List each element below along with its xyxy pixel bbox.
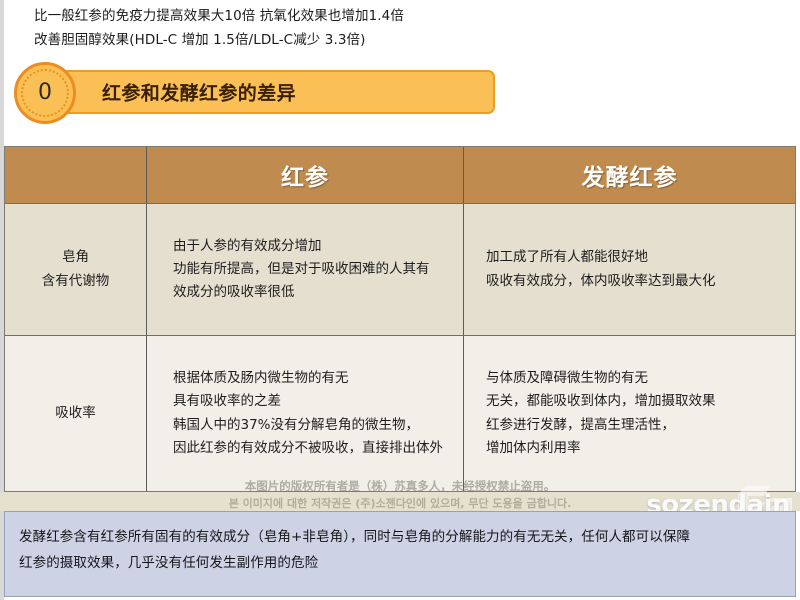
lead-line-2: 改善胆固醇效果(HDL-C 增加 1.5倍/LDL-C减少 3.3倍)	[34, 34, 366, 48]
cell-line: 无关，都能吸收到体内，增加摄取效果	[486, 390, 716, 413]
table-header-cell-fermented: 发酵红参	[464, 147, 795, 203]
row-fermented-cell: 加工成了所有人都能很好地 吸收有效成分，体内吸收率达到最大化	[464, 204, 795, 335]
cell-line: 增加体内利用率	[486, 437, 716, 460]
cell-line: 功能有所提高，但是对于吸收困难的人其有	[173, 258, 430, 281]
lead-line-1: 比一般红参的免疫力提高效果大10倍 抗氧化效果也增加1.4倍	[34, 10, 404, 24]
row-red-ginseng-cell: 根据体质及肠内微生物的有无 具有吸收率的之差 韩国人中的37%没有分解皂角的微生…	[147, 336, 464, 491]
row-label-line: 皂角	[42, 246, 110, 269]
table-header-cell-red-ginseng: 红参	[147, 147, 464, 203]
row-label-cell: 吸收率	[5, 336, 147, 491]
cell-line: 与体质及障碍微生物的有无	[486, 367, 716, 390]
row-label-line: 吸收率	[55, 402, 96, 425]
cell-line: 加工成了所有人都能很好地	[486, 246, 716, 269]
badge-number: 0	[17, 82, 73, 104]
cell-line: 韩国人中的37%没有分解皂角的微生物，	[173, 414, 443, 437]
comparison-table: 红参 发酵红参 皂角 含有代谢物 由于人参的有效成分增加 功能有所提高，但是对于…	[4, 146, 796, 492]
table-header-cell-empty	[5, 147, 147, 203]
table-row: 皂角 含有代谢物 由于人参的有效成分增加 功能有所提高，但是对于吸收困难的人其有…	[5, 204, 795, 336]
row-label-cell: 皂角 含有代谢物	[5, 204, 147, 335]
title-banner: 红参和发酵红参的差异	[54, 70, 495, 114]
cell-line: 根据体质及肠内微生物的有无	[173, 367, 443, 390]
cell-line: 因此红参的有效成分不被吸收，直接排出体外	[173, 437, 443, 460]
conclusion-line: 发酵红参含有红参所有固有的有效成分（皂角+非皂角），同时与皂角的分解能力的有无无…	[19, 524, 781, 550]
row-fermented-cell: 与体质及障碍微生物的有无 无关，都能吸收到体内，增加摄取效果 红参进行发酵，提高…	[464, 336, 795, 491]
table-row: 吸收率 根据体质及肠内微生物的有无 具有吸收率的之差 韩国人中的37%没有分解皂…	[5, 336, 795, 491]
cell-line: 具有吸收率的之差	[173, 390, 443, 413]
cell-line: 红参进行发酵，提高生理活性，	[486, 414, 716, 437]
cell-line: 效成分的吸收率很低	[173, 281, 430, 304]
section-number-badge: 0	[14, 62, 76, 124]
table-header-row: 红参 发酵红参	[5, 147, 795, 204]
conclusion-box: 发酵红参含有红参所有固有的有效成分（皂角+非皂角），同时与皂角的分解能力的有无无…	[4, 511, 796, 597]
conclusion-line: 红参的摄取效果，几乎没有任何发生副作用的危险	[19, 550, 781, 576]
cell-line: 吸收有效成分，体内吸收率达到最大化	[486, 270, 716, 293]
slide-canvas: 比一般红参的免疫力提高效果大10倍 抗氧化效果也增加1.4倍 改善胆固醇效果(H…	[0, 0, 800, 600]
banner-title: 红参和发酵红参的差异	[102, 79, 296, 106]
row-label-line: 含有代谢物	[42, 270, 110, 293]
row-red-ginseng-cell: 由于人参的有效成分增加 功能有所提高，但是对于吸收困难的人其有 效成分的吸收率很…	[147, 204, 464, 335]
cell-line: 由于人参的有效成分增加	[173, 235, 430, 258]
